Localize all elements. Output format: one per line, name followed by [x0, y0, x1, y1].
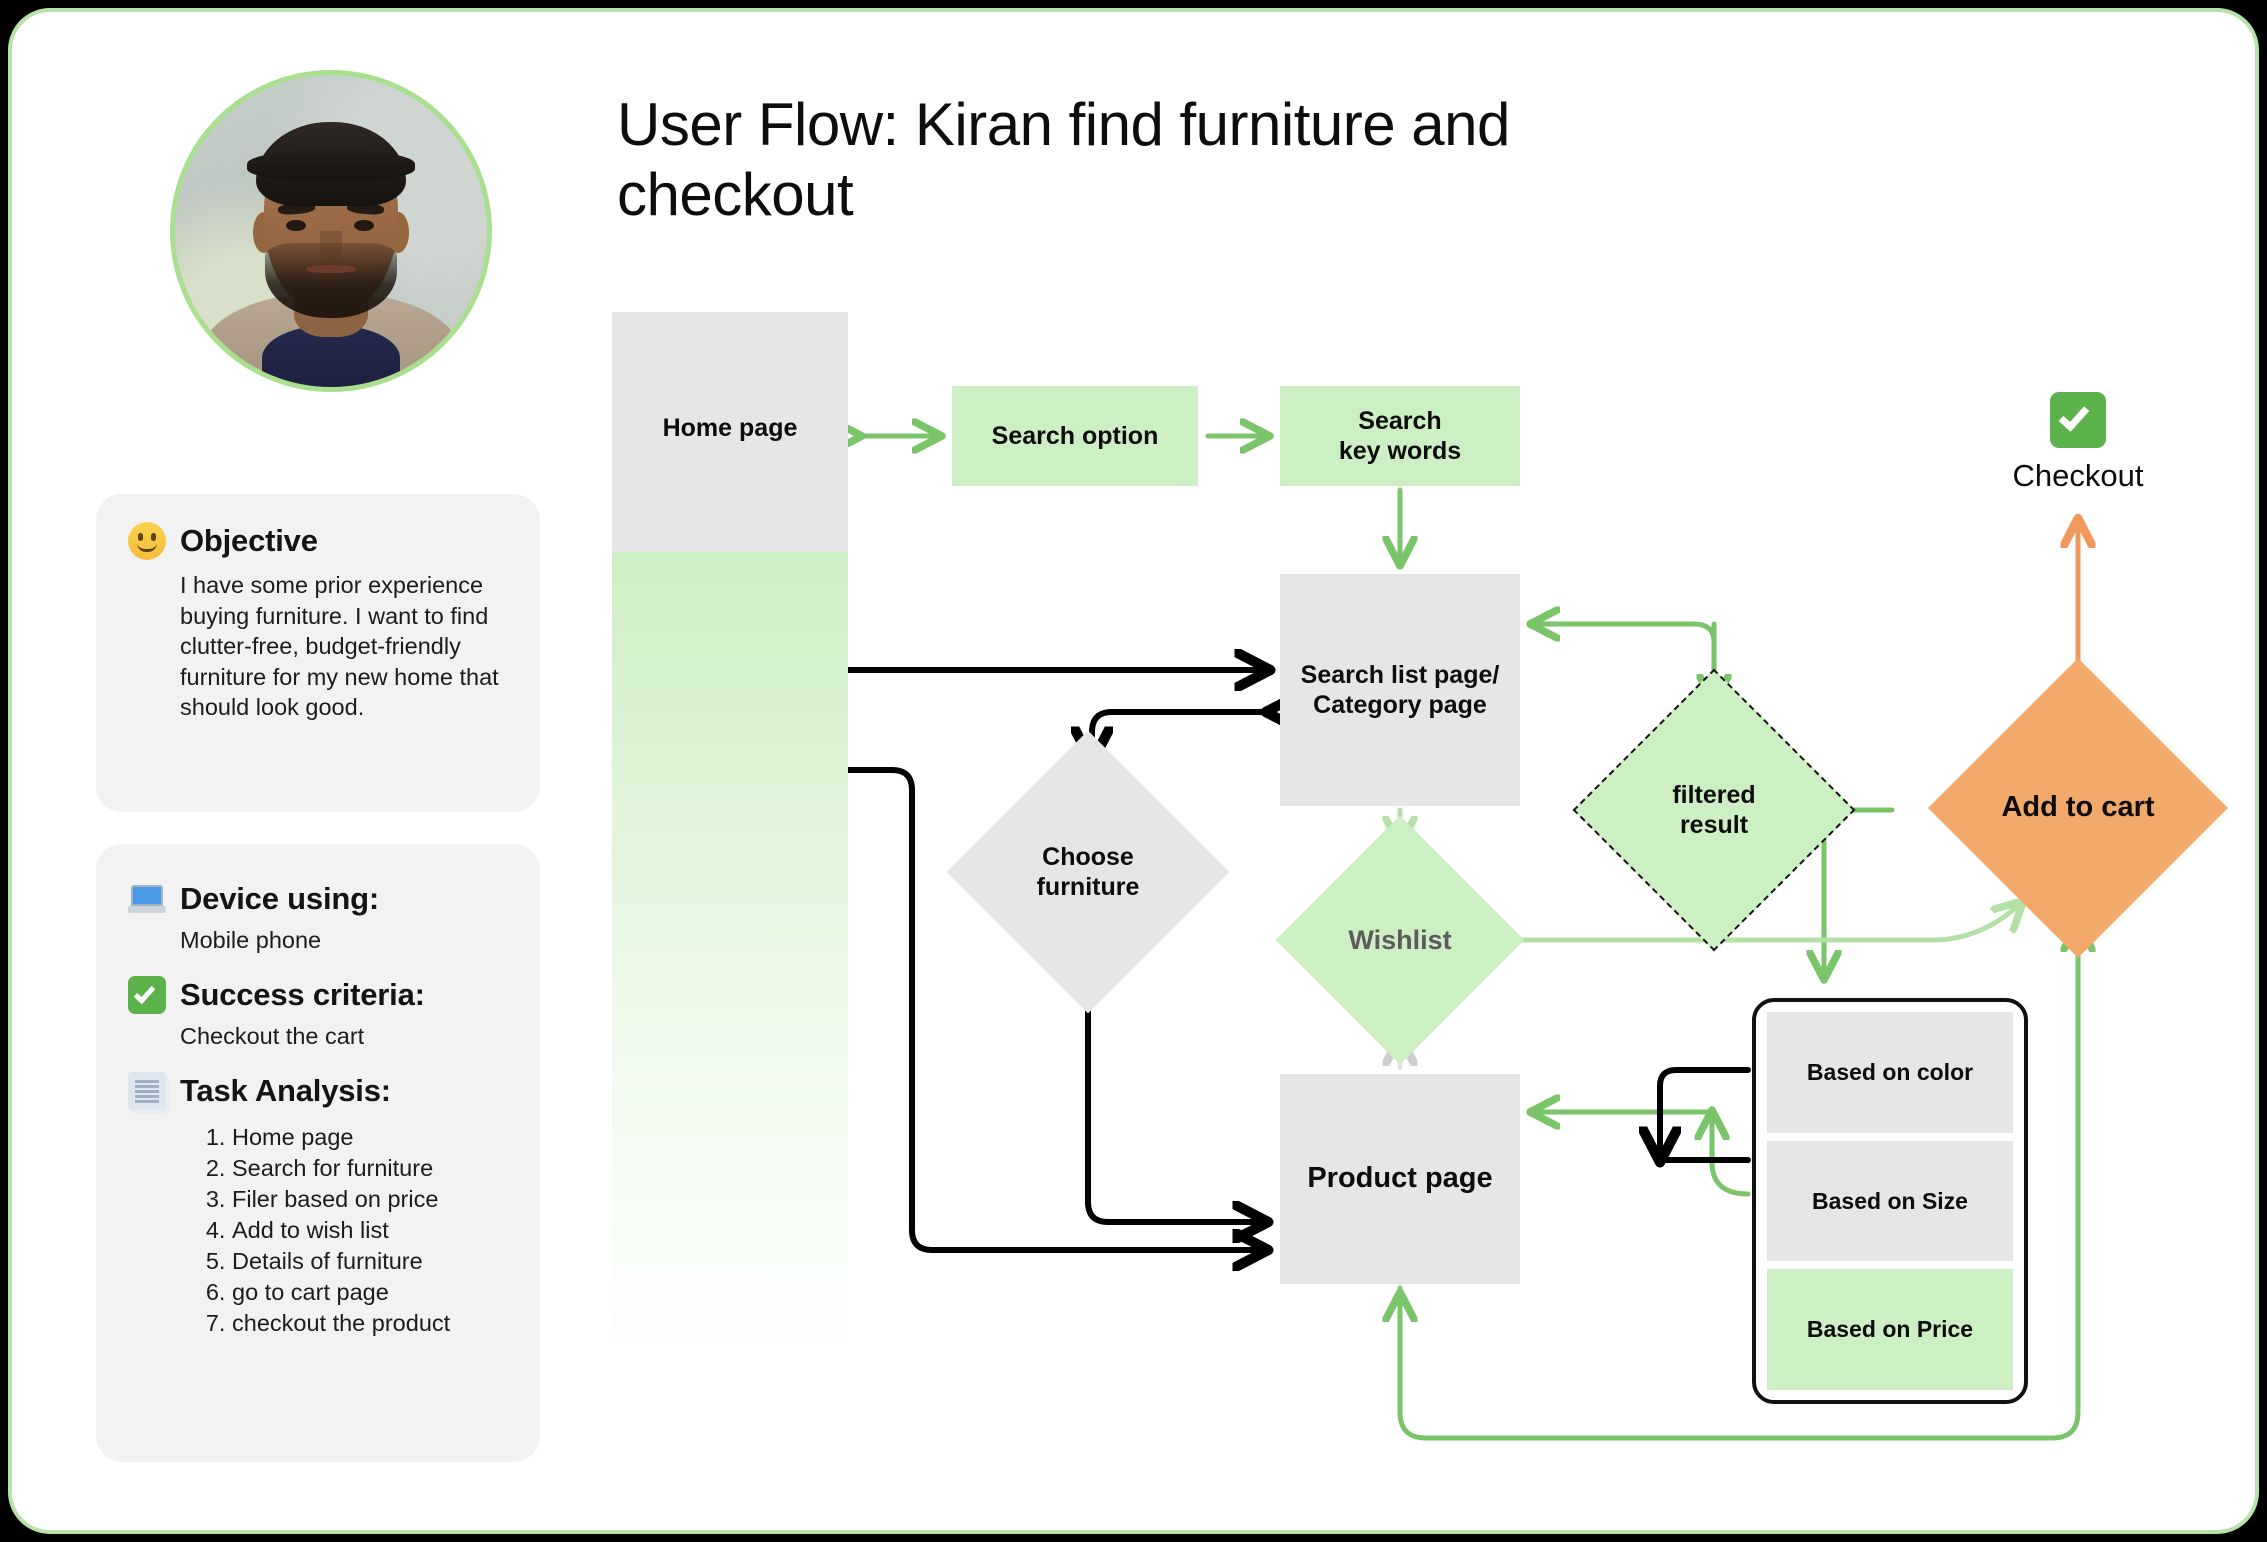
node-product-page[interactable]: Product page	[1280, 1074, 1520, 1284]
node-search-key-words[interactable]: Search key words	[1280, 386, 1520, 486]
filter-option-label: Based on color	[1807, 1059, 1973, 1086]
home-page-gradient-column	[612, 552, 848, 1372]
node-search-option[interactable]: Search option	[952, 386, 1198, 486]
node-wishlist-label: Wishlist	[1348, 924, 1451, 957]
node-home-page-label: Home page	[663, 413, 798, 444]
filter-option-label: Based on Price	[1807, 1316, 1973, 1343]
filter-option-label: Based on Size	[1812, 1188, 1968, 1215]
filter-options-card[interactable]: Based on colorBased on SizeBased on Pric…	[1752, 998, 2028, 1404]
filter-option-row[interactable]: Based on Price	[1767, 1269, 2013, 1390]
node-checkout[interactable]: Checkout	[1988, 392, 2168, 494]
flow-diagram: Home page Search option Search key words…	[12, 12, 2259, 1534]
node-search-option-label: Search option	[992, 421, 1159, 452]
node-search-list-page-label: Search list page/ Category page	[1301, 660, 1500, 721]
node-checkout-label: Checkout	[2013, 458, 2144, 494]
user-flow-board: Objective I have some prior experience b…	[8, 8, 2259, 1534]
node-home-page[interactable]: Home page	[612, 312, 848, 552]
node-choose-furniture[interactable]: Choose furniture	[988, 772, 1188, 972]
node-choose-furniture-label: Choose furniture	[1037, 842, 1140, 903]
node-filtered-result[interactable]: filtered result	[1614, 710, 1814, 910]
node-add-to-cart-label: Add to cart	[2001, 790, 2154, 825]
filter-option-row[interactable]: Based on color	[1767, 1012, 2013, 1133]
node-add-to-cart[interactable]: Add to cart	[1972, 702, 2184, 914]
node-search-key-words-label: Search key words	[1339, 406, 1461, 467]
node-wishlist[interactable]: Wishlist	[1312, 852, 1488, 1028]
filter-option-row[interactable]: Based on Size	[1767, 1141, 2013, 1262]
node-product-page-label: Product page	[1307, 1161, 1492, 1196]
node-filtered-result-label: filtered result	[1672, 780, 1755, 841]
node-search-list-page[interactable]: Search list page/ Category page	[1280, 574, 1520, 806]
checkout-check-icon	[2050, 392, 2106, 448]
